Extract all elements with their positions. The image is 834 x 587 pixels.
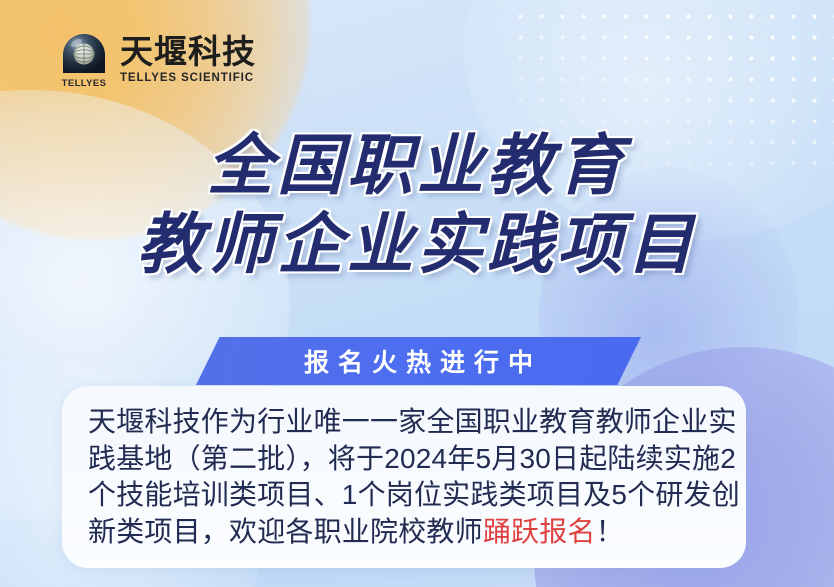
announcement-line-4: 新类项目，欢迎各职业院校教师踊跃报名！ <box>88 514 728 551</box>
title-line-2: 教师企业实践项目 <box>0 203 834 286</box>
announcement-highlight: 踊跃报名 <box>483 516 596 547</box>
announcement-line-4-post: ！ <box>596 516 624 547</box>
brand-logo: TELLYES 天堰科技 TELLYES SCIENTIFIC <box>58 33 256 89</box>
announcement-line-2: 践基地（第二批），将于2024年5月30日起陆续实施2 <box>88 441 728 478</box>
announcement-line-3: 个技能培训类项目、1个岗位实践类项目及5个研发创 <box>88 477 728 514</box>
title-line-1: 全国职业教育 <box>0 124 834 207</box>
announcement-line-4-pre: 新类项目，欢迎各职业院校教师 <box>88 516 483 547</box>
announcement-text: 天堰科技作为行业唯一一家全国职业教育教师企业实 践基地（第二批），将于2024年… <box>88 404 728 550</box>
logo-wordmark: 天堰科技 TELLYES SCIENTIFIC <box>120 33 256 84</box>
poster-canvas: TELLYES 天堰科技 TELLYES SCIENTIFIC 全国职业教育 教… <box>0 0 834 587</box>
logo-mark: TELLYES <box>58 33 110 89</box>
page-title: 全国职业教育 教师企业实践项目 <box>0 124 834 286</box>
logo-company-name-en: TELLYES SCIENTIFIC <box>120 72 256 84</box>
tellyes-globe-emblem-icon <box>61 33 107 77</box>
logo-company-name-cn: 天堰科技 <box>120 35 256 69</box>
status-banner: 报名火热进行中 <box>196 337 641 385</box>
status-banner-label: 报名火热进行中 <box>295 343 542 379</box>
announcement-line-1: 天堰科技作为行业唯一一家全国职业教育教师企业实 <box>88 404 728 441</box>
logo-mark-caption: TELLYES <box>62 79 107 89</box>
